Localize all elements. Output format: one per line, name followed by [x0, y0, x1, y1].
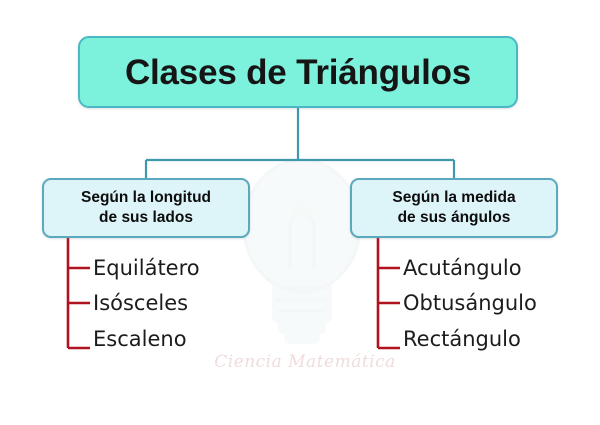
category-box-angles: Según la medida de sus ángulos — [350, 178, 558, 238]
leaf-obtusangulo: Obtusángulo — [403, 293, 537, 314]
page-title: Clases de Triángulos — [125, 55, 471, 90]
category-label-angles: Según la medida de sus ángulos — [392, 188, 515, 228]
category-label-sides-line2: de sus lados — [99, 209, 193, 226]
leaf-isosceles: Isósceles — [93, 293, 188, 314]
leaf-acutangulo: Acutángulo — [403, 258, 522, 279]
leaf-equilatero: Equilátero — [93, 258, 200, 279]
category-label-sides: Según la longitud de sus lados — [81, 188, 211, 228]
category-box-sides: Según la longitud de sus lados — [42, 178, 250, 238]
category-label-sides-line1: Según la longitud — [81, 189, 211, 206]
brand-watermark: Ciencia Matemática — [205, 352, 405, 372]
category-label-angles-line1: Según la medida — [392, 189, 515, 206]
category-label-angles-line2: de sus ángulos — [398, 209, 511, 226]
diagram-canvas: Ciencia Matemática Clases de Triángulos — [0, 0, 600, 425]
leaf-escaleno: Escaleno — [93, 329, 187, 350]
leaf-rectangulo: Rectángulo — [403, 329, 521, 350]
diagram-title-box: Clases de Triángulos — [78, 36, 518, 108]
